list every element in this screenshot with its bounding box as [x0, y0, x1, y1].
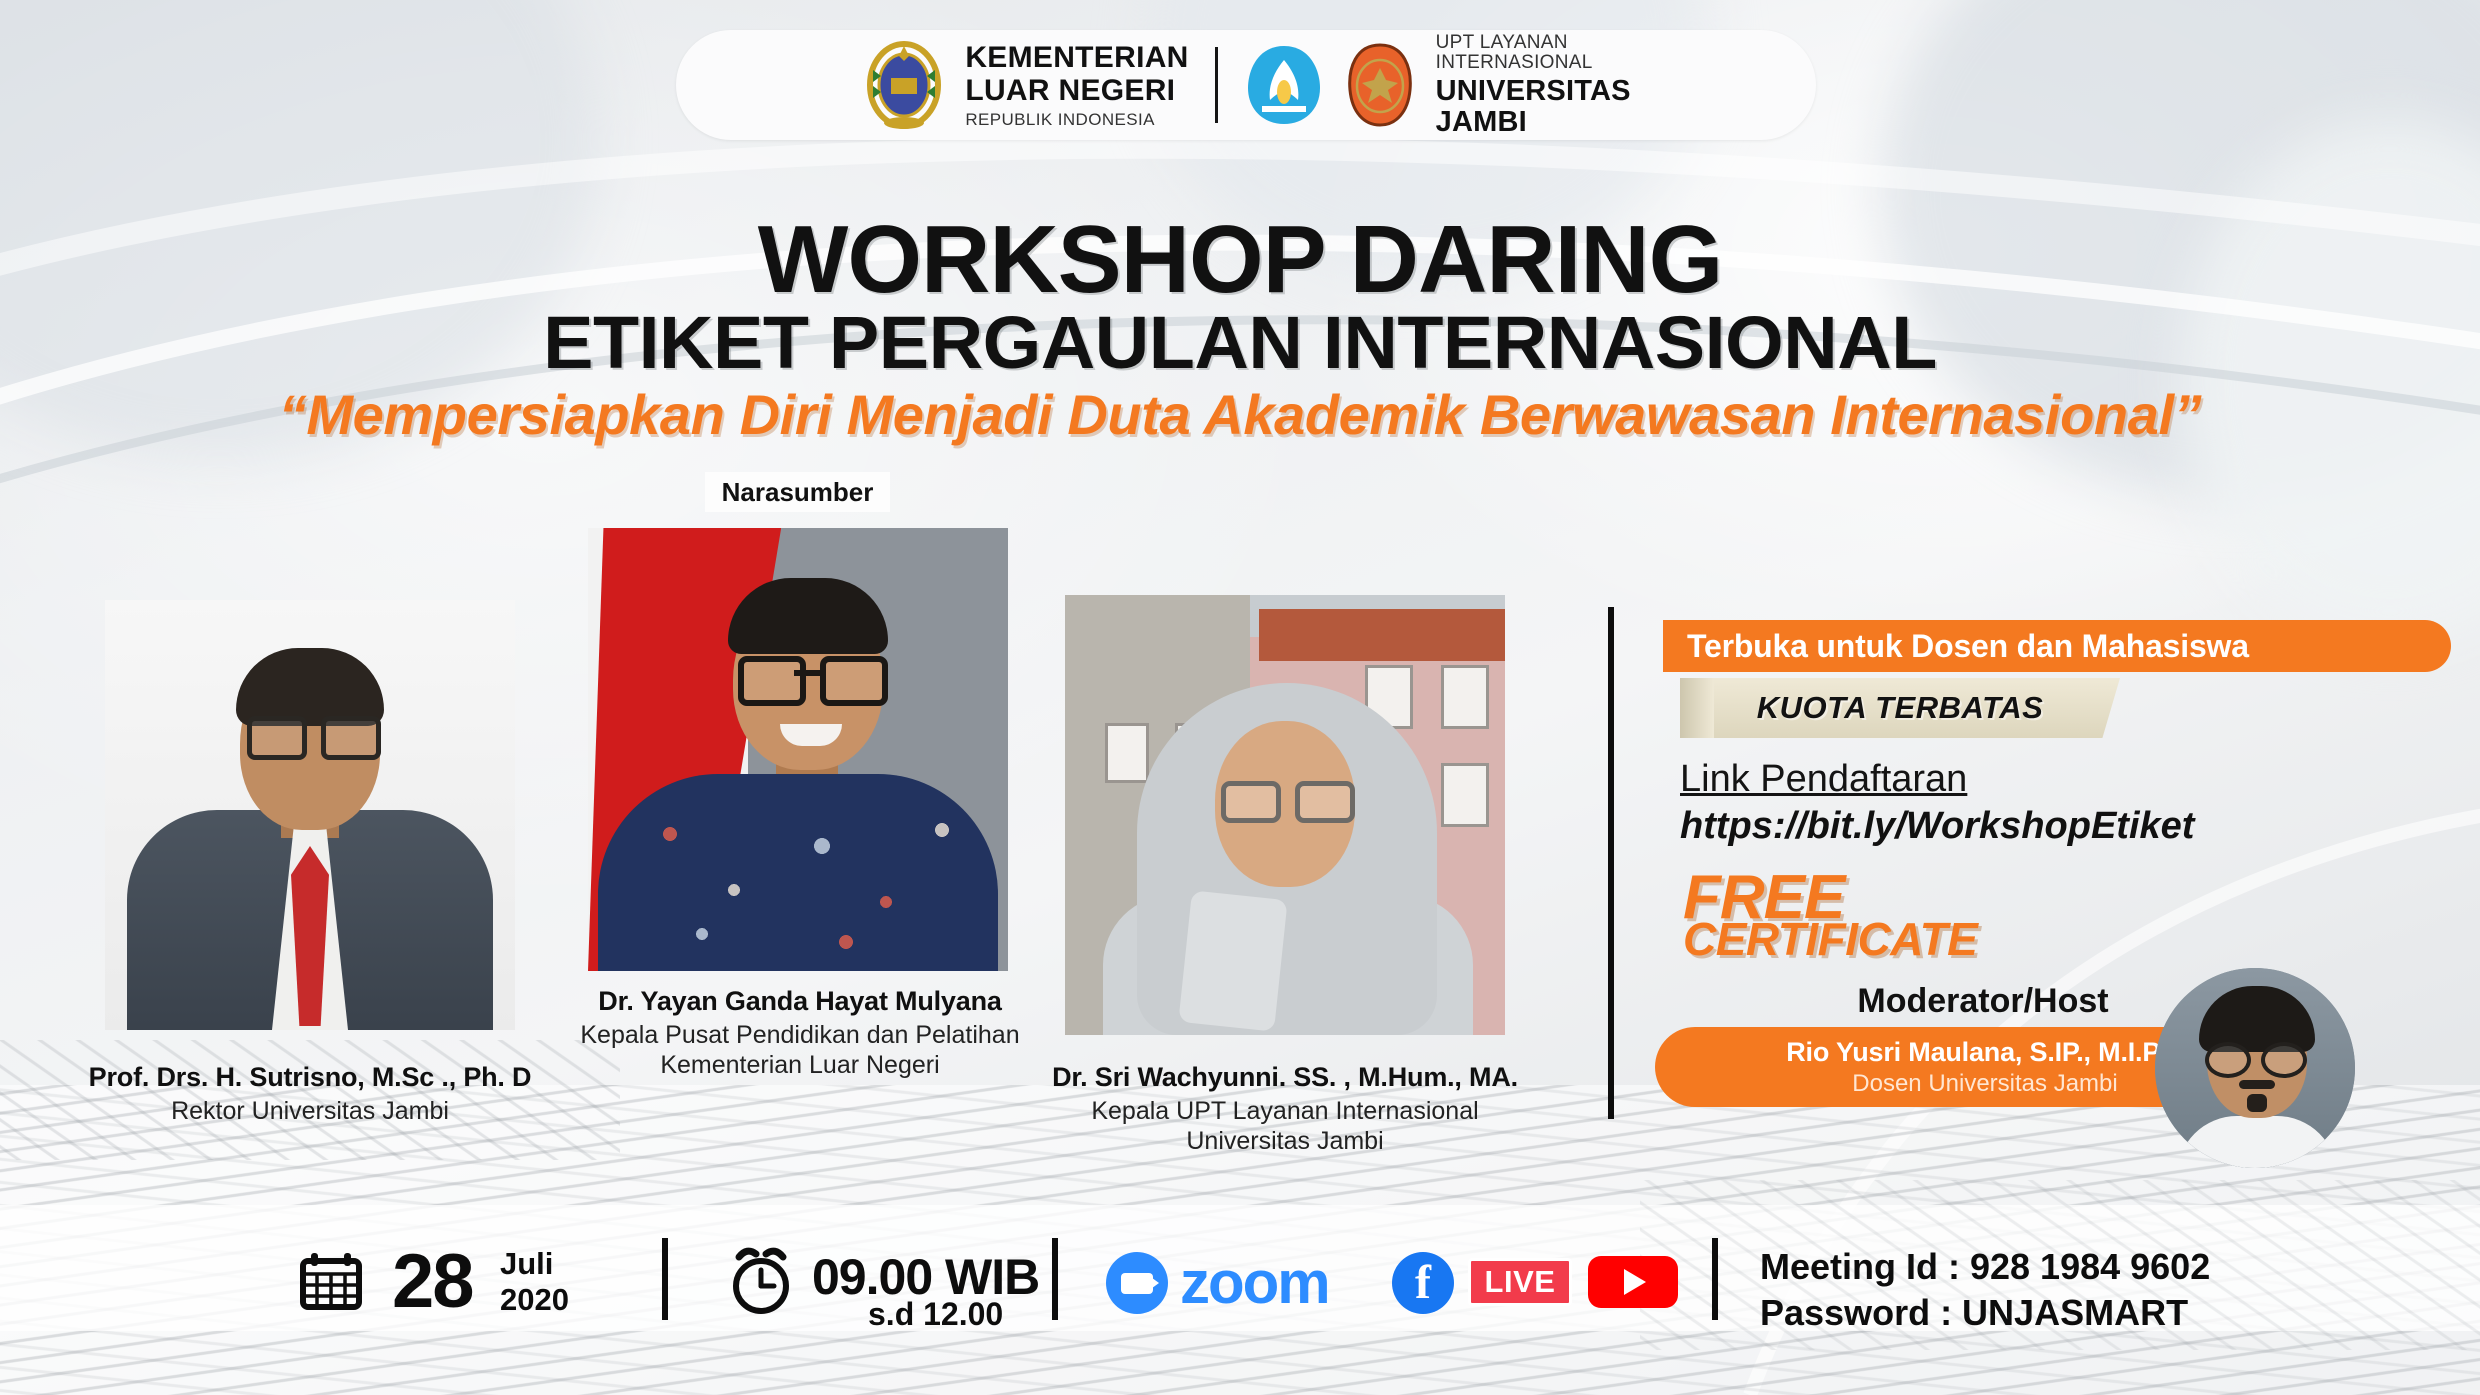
zoom-label: zoom	[1180, 1248, 1329, 1317]
quota-label: KUOTA TERBATAS	[1757, 690, 2044, 726]
footer-divider	[1712, 1238, 1718, 1320]
speaker-name: Dr. Sri Wachyunni. SS. , M.Hum., MA.	[1000, 1062, 1570, 1093]
speaker-name: Prof. Drs. H. Sutrisno, M.Sc ., Ph. D	[30, 1062, 590, 1093]
event-day: 28	[392, 1238, 473, 1325]
calendar-icon	[300, 1252, 362, 1310]
registration-link-label: Link Pendaftaran	[1680, 758, 1967, 801]
unja-line3: UNIVERSITAS	[1436, 76, 1631, 107]
header-logo-bar: KEMENTERIAN LUAR NEGERI REPUBLIK INDONES…	[676, 30, 1816, 140]
open-to-banner: Terbuka untuk Dosen dan Mahasiswa	[1663, 620, 2451, 672]
panel-divider	[1608, 607, 1614, 1119]
universitas-jambi-logo-icon	[1340, 42, 1420, 128]
speaker-photo-sutrisno	[105, 600, 515, 1030]
poster-title-line1: WORKSHOP DARING	[0, 205, 2480, 315]
speaker-role: Rektor Universitas Jambi	[30, 1097, 590, 1127]
registration-link-url[interactable]: https://bit.ly/WorkshopEtiket	[1680, 805, 2194, 848]
kemlu-line2: LUAR NEGERI	[965, 76, 1188, 106]
moderator-role: Dosen Universitas Jambi	[1852, 1070, 2117, 1098]
poster-subtitle: “Mempersiapkan Diri Menjadi Duta Akademi…	[0, 382, 2480, 447]
ribbon-curl	[1680, 678, 1714, 738]
speaker-role-line1: Kepala Pusat Pendidikan dan Pelatihan	[530, 1021, 1070, 1051]
zoom-camera-icon	[1106, 1252, 1168, 1314]
kemlu-logo-group: KEMENTERIAN LUAR NEGERI REPUBLIK INDONES…	[861, 40, 1188, 130]
poster-title-line2: ETIKET PERGAULAN INTERNASIONAL	[0, 300, 2480, 385]
live-badge: LIVE	[1468, 1258, 1572, 1306]
meeting-password: Password : UNJASMART	[1760, 1292, 2188, 1334]
speaker-photo-sri	[1065, 595, 1505, 1035]
footer-divider	[1052, 1238, 1058, 1320]
poster-canvas: KEMENTERIAN LUAR NEGERI REPUBLIK INDONES…	[0, 0, 2480, 1395]
speaker-role-line2: Universitas Jambi	[1000, 1127, 1570, 1157]
unja-line2: INTERNASIONAL	[1436, 53, 1631, 73]
unja-line4: JAMBI	[1436, 107, 1631, 138]
event-year: 2020	[500, 1282, 569, 1318]
speaker-role-line2: Kementerian Luar Negeri	[530, 1051, 1070, 1081]
kemlu-text: KEMENTERIAN LUAR NEGERI REPUBLIK INDONES…	[965, 43, 1188, 128]
unja-logo-group: UPT LAYANAN INTERNASIONAL UNIVERSITAS JA…	[1244, 33, 1631, 138]
speaker-caption: Dr. Sri Wachyunni. SS. , M.Hum., MA. Kep…	[1000, 1062, 1570, 1156]
event-time-end: s.d 12.00	[868, 1296, 1003, 1333]
unja-line1: UPT LAYANAN	[1436, 33, 1631, 53]
quota-ribbon: KUOTA TERBATAS	[1680, 678, 2120, 738]
speaker-name: Dr. Yayan Ganda Hayat Mulyana	[530, 986, 1070, 1017]
speaker-photo-yayan	[588, 528, 1008, 971]
event-month: Juli	[500, 1246, 553, 1282]
garuda-emblem-icon	[861, 40, 947, 130]
meeting-id: Meeting Id : 928 1984 9602	[1760, 1246, 2210, 1288]
speakers-section-label: Narasumber	[705, 472, 890, 512]
speaker-caption: Prof. Drs. H. Sutrisno, M.Sc ., Ph. D Re…	[30, 1062, 590, 1127]
speaker-caption: Dr. Yayan Ganda Hayat Mulyana Kepala Pus…	[530, 986, 1070, 1080]
free-certificate-line2: CERTIFICATE	[1683, 912, 1977, 966]
moderator-name: Rio Yusri Maulana, S.IP., M.I.Pol	[1786, 1037, 2184, 1068]
unja-text: UPT LAYANAN INTERNASIONAL UNIVERSITAS JA…	[1436, 33, 1631, 138]
speaker-role-line1: Kepala UPT Layanan Internasional	[1000, 1097, 1570, 1127]
youtube-icon	[1588, 1256, 1678, 1308]
kemlu-line3: REPUBLIK INDONESIA	[965, 111, 1188, 128]
alarm-clock-icon	[726, 1244, 796, 1316]
kemlu-line1: KEMENTERIAN	[965, 43, 1188, 73]
logo-divider	[1215, 47, 1218, 123]
tut-wuri-handayani-icon	[1244, 42, 1324, 128]
moderator-photo-rio	[2155, 968, 2355, 1168]
facebook-icon: f	[1392, 1252, 1454, 1314]
footer-divider	[662, 1238, 668, 1320]
